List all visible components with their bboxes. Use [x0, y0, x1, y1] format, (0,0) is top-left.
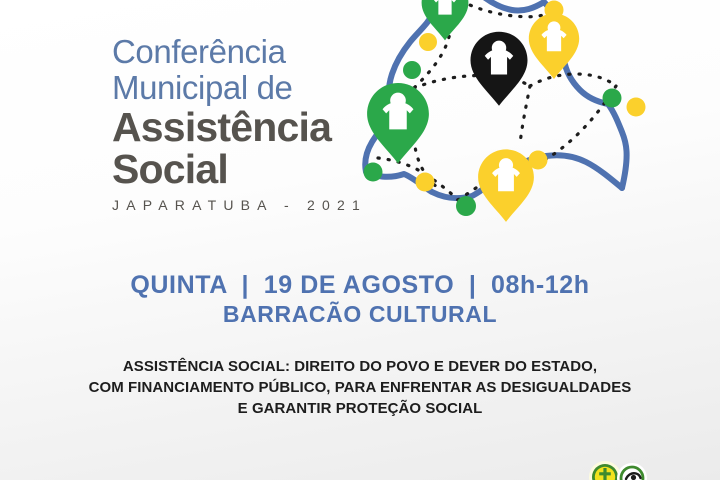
poster-title-block: Conferência Municipal de Assistência Soc… [112, 34, 442, 213]
green-badge-logo [617, 463, 647, 480]
partner-logos [583, 458, 663, 480]
cross-badge-logo [589, 461, 621, 480]
theme-line-1: ASSISTÊNCIA SOCIAL: DIREITO DO POVO E DE… [0, 356, 720, 377]
map-dot-green-2 [603, 89, 622, 108]
conference-poster: Conferência Municipal de Assistência Soc… [0, 0, 720, 480]
map-pin-center [471, 32, 528, 106]
title-line-conferencia: Conferência [112, 34, 442, 70]
theme-line-3: E GARANTIR PROTEÇÃO SOCIAL [0, 398, 720, 419]
title-line-social: Social [112, 148, 442, 190]
map-dot-green-4 [456, 196, 476, 216]
title-line-municipal-de: Municipal de [112, 70, 442, 106]
theme-line-2: COM FINANCIAMENTO PÚBLICO, PARA ENFRENTA… [0, 377, 720, 398]
date-separator-2: | [462, 271, 484, 299]
event-schedule-block: QUINTA | 19 DE AGOSTO | 08h-12h BARRACÃO… [0, 270, 720, 328]
event-date: 19 DE AGOSTO [264, 271, 455, 299]
event-weekday: QUINTA [130, 271, 227, 299]
event-venue: BARRACÃO CULTURAL [0, 300, 720, 328]
date-separator-1: | [235, 271, 257, 299]
title-line-assistencia: Assistência [112, 106, 442, 148]
map-pin-northeast [529, 13, 579, 79]
conference-theme-block: ASSISTÊNCIA SOCIAL: DIREITO DO POVO E DE… [0, 356, 720, 419]
map-pin-south [478, 149, 534, 222]
event-time: 08h-12h [491, 271, 590, 299]
city-and-year: JAPARATUBA - 2021 [112, 197, 442, 213]
event-date-line: QUINTA | 19 DE AGOSTO | 08h-12h [0, 270, 720, 300]
map-dot-yellow-3 [627, 98, 646, 117]
